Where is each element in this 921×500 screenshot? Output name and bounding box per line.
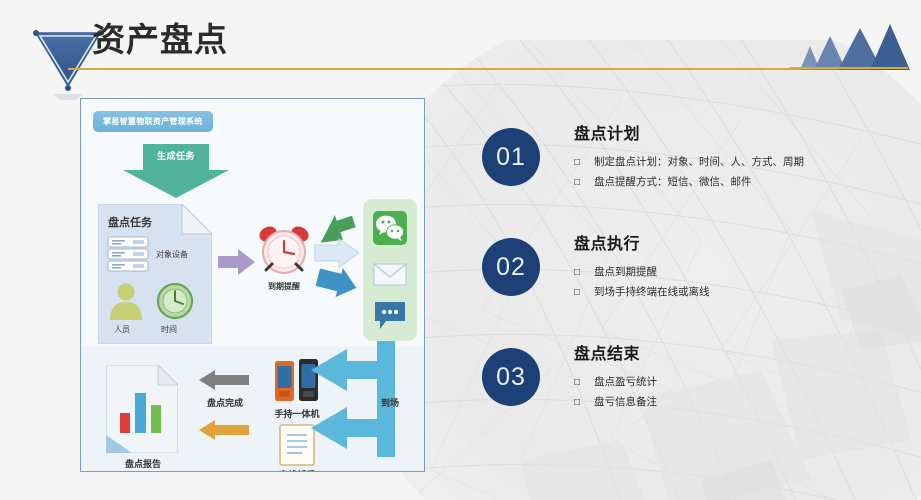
section-bullet-item: □ 盘点提醒方式：短信、微信、邮件 [574,173,912,193]
page-title: 资产盘点 [92,22,228,58]
paper-label: 离线纸质 [259,468,335,472]
notification-channels-panel [363,199,417,341]
onsite-label: 到场 [381,396,421,409]
reminder-label: 到期提醒 [250,281,318,292]
section-bullet-item: □ 盘点到期提醒 [574,263,912,283]
checkbox-bullet-icon: □ [574,283,580,302]
clock-label: 时间 [161,324,177,335]
person-label: 人员 [114,324,130,335]
section-bullet-text: 盘点到期提醒 [594,263,657,283]
section-01: 01 盘点计划 □ 制定盘点计划：对象、时间、人、方式、周期 □ 盘点提醒方式：… [482,120,912,230]
section-bullet-text: 盘点提醒方式：短信、微信、邮件 [594,173,752,193]
section-03: 03 盘点结束 □ 盘点盈亏统计 □ 盘亏信息备注 [482,340,912,450]
alarm-clock-icon [256,221,312,277]
slide-canvas: 资产盘点 掌易智慧物联资产管理系统 生成任务 [0,0,921,500]
task-card-title: 盘点任务 [108,214,152,230]
section-number-badge: 02 [482,238,540,296]
complete-label: 盘点完成 [186,396,264,409]
section-bullet-item: □ 盘亏信息备注 [574,393,912,413]
complete-gray-arrow-icon [199,369,249,391]
checkbox-bullet-icon: □ [574,373,580,392]
task-card: 盘点任务 对象设备 [98,204,212,344]
section-bullet-text: 到场手持终端在线或离线 [594,283,710,303]
section-02: 02 盘点执行 □ 盘点到期提醒 □ 到场手持终端在线或离线 [482,230,912,340]
clock-icon [156,282,194,320]
generate-task-label: 生成任务 [121,149,231,162]
checkbox-bullet-icon: □ [574,263,580,282]
section-number-badge: 01 [482,128,540,186]
wechat-icon [373,211,407,245]
section-bullet-item: □ 到场手持终端在线或离线 [574,283,912,303]
section-bullet-text: 制定盘点计划：对象、时间、人、方式、周期 [594,153,804,173]
triple-arrows-icon [313,211,361,301]
section-title: 盘点计划 [574,120,912,144]
mountains-icon [786,22,911,70]
section-title: 盘点结束 [574,340,912,364]
server-icon [107,236,149,273]
checkbox-bullet-icon: □ [574,393,580,412]
inventory-flow-diagram: 掌易智慧物联资产管理系统 生成任务 盘点任务 [80,98,425,472]
sections-list: 01 盘点计划 □ 制定盘点计划：对象、时间、人、方式、周期 □ 盘点提醒方式：… [482,120,912,450]
report-label: 盘点报告 [95,457,191,470]
purple-arrow-icon [218,247,256,277]
system-name-badge: 掌易智慧物联资产管理系统 [93,111,213,132]
sms-icon [373,299,407,333]
section-bullet-item: □ 制定盘点计划：对象、时间、人、方式、周期 [574,153,912,173]
checkbox-bullet-icon: □ [574,173,580,192]
section-bullet-text: 盘亏信息备注 [594,393,657,413]
section-bullet-text: 盘点盈亏统计 [594,373,657,393]
checkbox-bullet-icon: □ [574,153,580,172]
section-number-badge: 03 [482,348,540,406]
section-bullet-item: □ 盘点盈亏统计 [574,373,912,393]
mail-icon [373,257,407,291]
section-title: 盘点执行 [574,230,912,254]
title-divider [68,68,848,70]
server-label: 对象设备 [156,249,188,260]
person-icon [108,282,144,320]
bar-chart-document-icon [106,365,178,453]
offline-gold-arrow-icon [199,419,249,441]
